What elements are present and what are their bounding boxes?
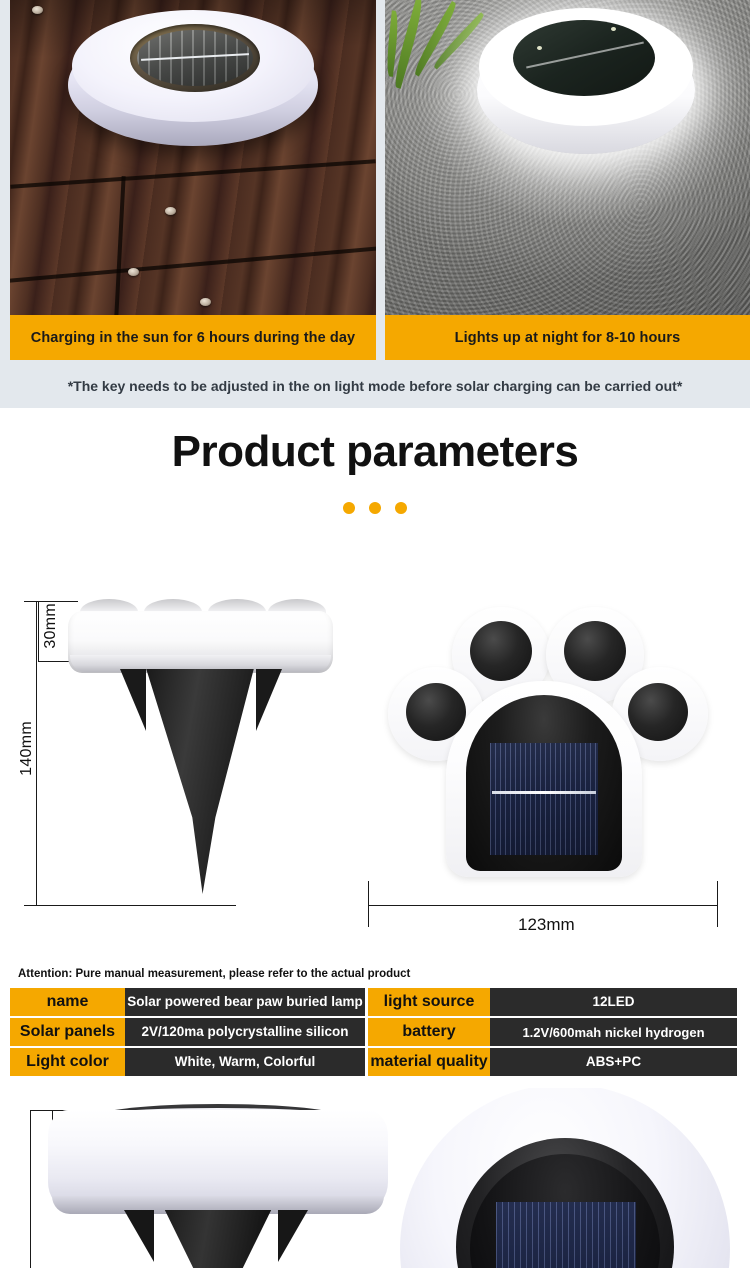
round-lamp-side-view <box>48 1110 388 1268</box>
page-title: Product parameters <box>0 430 750 474</box>
paw-toe-lens <box>406 683 466 741</box>
solar-panel <box>513 20 655 96</box>
dimension-line-30mm <box>38 601 39 661</box>
panel-speck <box>537 46 542 50</box>
spec-key-battery: battery <box>368 1018 490 1046</box>
dot-separator <box>0 502 750 514</box>
paw-center-lens <box>466 695 622 871</box>
separator-dot <box>395 502 407 514</box>
paw-toe-lens <box>470 621 532 681</box>
spec-value-material-quality: ABS+PC <box>490 1048 737 1076</box>
product-photo-night <box>385 0 750 315</box>
spec-key-light-color: Light color <box>10 1048 125 1076</box>
solar-busbar <box>141 53 249 61</box>
dimension-tick <box>24 905 236 906</box>
bottom-diagram-section: 24mm <box>0 1088 750 1268</box>
separator-dot <box>369 502 381 514</box>
round-lamp-top-view <box>400 1088 730 1268</box>
spec-key-light-source: light source <box>368 988 490 1016</box>
caption-night: Lights up at night for 8-10 hours <box>385 315 750 360</box>
spike-fin <box>124 1210 154 1262</box>
separator-dot <box>343 502 355 514</box>
caption-row: Charging in the sun for 6 hours during t… <box>0 315 750 360</box>
dimension-diagram: 30mm 140mm <box>0 585 750 960</box>
dimension-bound-left <box>30 1110 31 1268</box>
lamp-housing <box>48 1110 388 1208</box>
photo-section: Charging in the sun for 6 hours during t… <box>0 0 750 408</box>
dimension-bound-right <box>717 881 718 927</box>
dimension-tick <box>24 601 46 602</box>
solar-panel <box>137 30 253 86</box>
paw-toe-lens <box>564 621 626 681</box>
attention-note: Attention: Pure manual measurement, plea… <box>18 968 410 980</box>
spec-key-solar-panels: Solar panels <box>10 1018 125 1046</box>
dimension-label-30mm: 30mm <box>42 603 60 649</box>
spike-fin <box>278 1210 308 1262</box>
solar-disc-light <box>68 10 318 155</box>
table-row: Solar panels 2V/120ma polycrystalline si… <box>10 1018 740 1046</box>
dimension-label-123mm: 123mm <box>518 915 575 935</box>
spec-value-light-source: 12LED <box>490 988 737 1016</box>
spike-fin <box>120 669 146 731</box>
caption-gap <box>376 315 385 360</box>
solar-busbar <box>492 791 596 794</box>
table-row: name Solar powered bear paw buried lamp … <box>10 988 740 1016</box>
table-row: Light color White, Warm, Colorful materi… <box>10 1048 740 1076</box>
ground-spike <box>148 1210 288 1268</box>
deck-screw <box>32 6 43 14</box>
usage-note: *The key needs to be adjusted in the on … <box>0 363 750 408</box>
spec-value-name: Solar powered bear paw buried lamp <box>125 988 365 1016</box>
glowing-disc-light <box>477 8 695 166</box>
product-detail-page: Charging in the sun for 6 hours during t… <box>0 0 750 1268</box>
deck-screw <box>128 268 139 276</box>
spec-key-material-quality: material quality <box>368 1048 490 1076</box>
spike-fin <box>256 669 282 731</box>
spec-value-battery: 1.2V/600mah nickel hydrogen <box>490 1018 737 1046</box>
paw-toe-lens <box>628 683 688 741</box>
dimension-tick <box>368 905 718 906</box>
panel-speck <box>611 27 616 31</box>
spec-value-light-color: White, Warm, Colorful <box>125 1048 365 1076</box>
panel-reflection <box>526 42 644 69</box>
caption-daytime: Charging in the sun for 6 hours during t… <box>10 315 376 360</box>
photo-row <box>0 0 750 315</box>
solar-panel <box>490 743 598 855</box>
product-side-view <box>68 599 333 899</box>
ground-spike <box>136 669 264 894</box>
product-photo-daytime <box>10 0 376 315</box>
specifications-table: name Solar powered bear paw buried lamp … <box>10 988 740 1078</box>
dimension-bound-left <box>368 881 369 927</box>
product-top-view <box>374 603 714 883</box>
section-heading-block: Product parameters <box>0 430 750 514</box>
dimension-label-140mm: 140mm <box>18 721 36 776</box>
spec-value-solar-panels: 2V/120ma polycrystalline silicon <box>125 1018 365 1046</box>
solar-panel <box>496 1202 636 1268</box>
deck-screw <box>165 207 176 215</box>
spec-key-name: name <box>10 988 125 1016</box>
photo-gap <box>376 0 385 315</box>
deck-screw <box>200 298 211 306</box>
dimension-line-140mm <box>36 601 37 905</box>
lamp-inner-face <box>470 1154 660 1268</box>
disc-metal-ring <box>130 24 260 92</box>
